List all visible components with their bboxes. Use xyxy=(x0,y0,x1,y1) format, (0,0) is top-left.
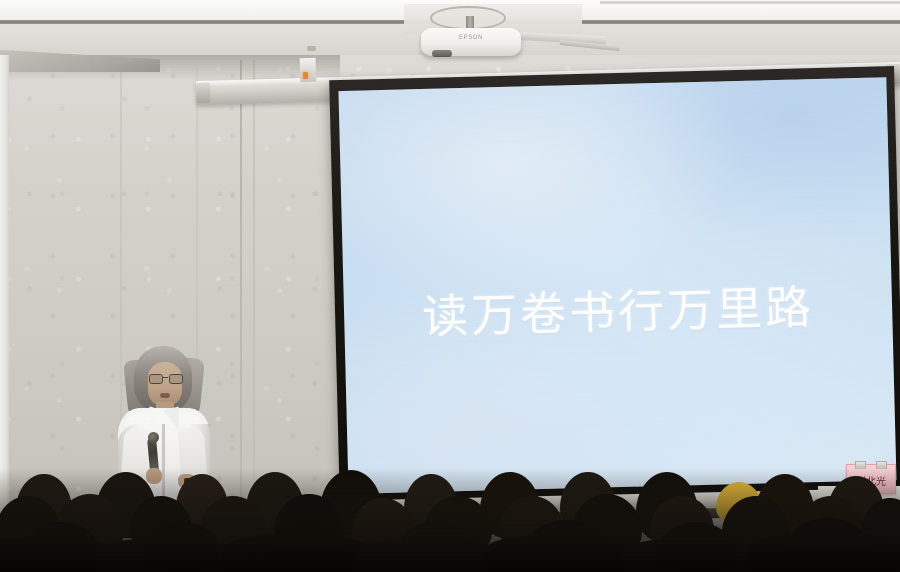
audience-head xyxy=(24,522,98,570)
glasses-lens-left xyxy=(149,374,163,384)
ceiling-tile-seam xyxy=(600,1,900,4)
audience-head xyxy=(398,522,474,570)
slide-surface: 读万卷书行万里路 xyxy=(338,77,896,494)
audience-head xyxy=(142,522,220,572)
audience-head xyxy=(786,518,870,572)
glasses-lens-right xyxy=(169,374,183,384)
glasses-icon xyxy=(149,374,181,382)
audience-head xyxy=(526,520,606,572)
roller-cap-left xyxy=(196,83,211,103)
audience-crowd xyxy=(0,468,900,572)
wall-left-edge xyxy=(0,55,9,525)
screen-power-indicator-icon xyxy=(303,72,308,79)
audience-head xyxy=(658,522,734,572)
roller-bracket xyxy=(300,58,317,83)
projector-brand-label: EPSON xyxy=(421,35,521,41)
projection-screen: 读万卷书行万里路 xyxy=(329,66,900,506)
roller-bracket-screw xyxy=(307,46,316,51)
speaker-face xyxy=(148,362,182,406)
projector-lens xyxy=(432,50,452,57)
slide-title-text: 读万卷书行万里路 xyxy=(343,269,892,349)
lecture-hall-photo: EPSON 读万卷书行万里路 刘北光 xyxy=(0,0,900,572)
speaker-mouth xyxy=(160,393,170,398)
wall-seam-2 xyxy=(253,60,255,500)
glasses-bridge xyxy=(162,377,168,378)
audience-head xyxy=(268,520,348,572)
wall-seam-1 xyxy=(240,60,242,500)
